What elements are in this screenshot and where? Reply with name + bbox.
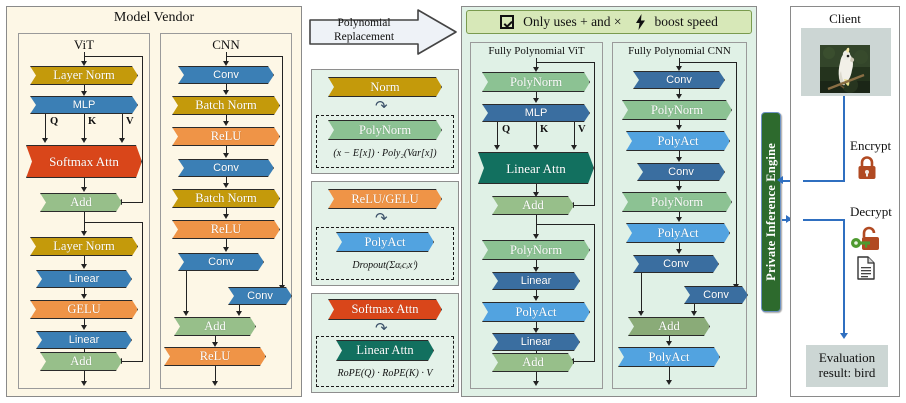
repl-node-norm: Norm bbox=[328, 77, 442, 97]
pcnn-skip-h bbox=[679, 62, 737, 63]
pvit-spine-0-arrow bbox=[533, 67, 539, 72]
pcnn-conv3-down bbox=[641, 273, 642, 314]
encrypt-label: Encrypt bbox=[850, 138, 898, 154]
pvit-label-v: V bbox=[578, 124, 586, 135]
replacement-loop-icon-2: ↷ bbox=[375, 209, 388, 228]
pvit-node-linear-1: Linear bbox=[492, 272, 580, 290]
vit-spine-5-arrow bbox=[81, 294, 87, 299]
cnn-node-conv-2: Conv bbox=[178, 159, 274, 177]
pcnn-spine-1-arrow bbox=[676, 94, 682, 99]
vit-res2-h-bot bbox=[122, 361, 143, 362]
pvit-label-k: K bbox=[540, 124, 548, 135]
bird-photo bbox=[820, 45, 870, 93]
pcnn-spine-3-arrow bbox=[676, 157, 682, 162]
vit-res2-h-top bbox=[84, 222, 143, 223]
cnn-spine-0-arrow bbox=[223, 61, 229, 66]
client-enc-v bbox=[843, 96, 845, 182]
pvit-qkv-v-arrow bbox=[571, 145, 577, 150]
checkbox-checked-icon bbox=[500, 15, 514, 29]
cnn-node-relu-1: ReLU bbox=[172, 127, 280, 146]
repl-node-softmax-attn: Softmax Attn bbox=[328, 299, 442, 320]
private-inference-engine-left: Private Inference Engine bbox=[761, 112, 781, 312]
pvit-res2-h-top bbox=[536, 224, 595, 225]
pvit-qkv-q-line bbox=[497, 122, 498, 147]
cnn-node-relu-3: ReLU bbox=[164, 347, 266, 366]
cnn-spine-7-arrow bbox=[212, 342, 218, 347]
pcnn-node-conv-3: Conv bbox=[633, 255, 719, 273]
engine-left-label: Private Inference Engine bbox=[764, 143, 779, 281]
vit-node-linear-2: Linear bbox=[36, 331, 132, 349]
cnn-spine-3-arrow bbox=[223, 153, 229, 158]
pvit-node-add-1: Add bbox=[492, 196, 574, 215]
cnn-conv3-arrow bbox=[183, 311, 189, 316]
engine-arrow-left-head bbox=[777, 176, 783, 184]
cnn-conv3-down bbox=[186, 271, 187, 313]
pcnn-spine-4-arrow bbox=[676, 186, 682, 191]
pcnn-spine-0-arrow bbox=[676, 66, 682, 71]
pcnn-node-conv-1: Conv bbox=[633, 71, 725, 89]
vit-node-softmax-attn: Softmax Attn bbox=[26, 145, 142, 178]
cnn-spine-4-arrow bbox=[223, 183, 229, 188]
vit-qkv-q-line bbox=[45, 114, 46, 140]
pcnn-conv3-arrow bbox=[638, 311, 644, 316]
pvit-qkv-k-line bbox=[536, 122, 537, 147]
pvit-res1-h-bot bbox=[574, 205, 595, 206]
cnn-node-conv-3: Conv bbox=[178, 253, 264, 271]
repl-node-linear-attn: Linear Attn bbox=[336, 340, 434, 361]
vit-title: ViT bbox=[18, 37, 150, 53]
client-dec-v bbox=[843, 219, 845, 336]
pcnn-node-polyact-2: PolyAct bbox=[626, 223, 730, 243]
pcnn-spine-5-arrow bbox=[676, 217, 682, 222]
client-dec-h bbox=[803, 219, 844, 221]
vit-qkv-v-line bbox=[122, 114, 123, 140]
pvit-node-add-2: Add bbox=[492, 353, 574, 372]
vit-res2-v bbox=[142, 222, 143, 361]
pcnn-node-polyact-3: PolyAct bbox=[618, 347, 720, 367]
vit-spine-2-arrow bbox=[81, 187, 87, 192]
cnn-node-batch-norm-1: Batch Norm bbox=[172, 96, 280, 115]
arrow-label-line1: Polynomial bbox=[312, 16, 416, 30]
poly-vit-title: Fully Polynomial ViT bbox=[470, 45, 603, 57]
open-padlock-with-key-icon bbox=[850, 226, 884, 252]
vit-qkv-k-line bbox=[84, 114, 85, 140]
vit-qkv-k-arrow bbox=[81, 138, 87, 143]
pvit-res2-v bbox=[594, 224, 595, 361]
client-dec-arrow bbox=[840, 333, 848, 339]
vit-node-add-1: Add bbox=[40, 193, 122, 212]
pvit-spine-5-arrow bbox=[533, 296, 539, 301]
pcnn-node-conv-shortcut: Conv bbox=[684, 286, 748, 304]
cnn-node-batch-norm-2: Batch Norm bbox=[172, 189, 280, 208]
pcnn-node-conv-2: Conv bbox=[637, 163, 725, 181]
vit-label-k: K bbox=[88, 116, 96, 127]
vit-node-add-2: Add bbox=[40, 352, 122, 371]
pvit-node-polynorm-2: PolyNorm bbox=[482, 240, 590, 260]
vit-spine-6-arrow bbox=[81, 325, 87, 330]
pvit-spine-4-arrow bbox=[533, 267, 539, 272]
replacement-loop-icon-1: ↷ bbox=[375, 97, 388, 116]
polynomial-replacement-arrow: Polynomial Replacement bbox=[308, 8, 458, 56]
vit-label-q: Q bbox=[50, 116, 58, 127]
pvit-res1-h-top bbox=[536, 62, 595, 63]
pcnn-spine-8-arrow bbox=[666, 380, 672, 385]
lightning-bolt-icon bbox=[635, 14, 646, 30]
evaluation-result-line2: result: bird bbox=[819, 366, 876, 381]
pcnn-node-add: Add bbox=[628, 317, 710, 336]
model-vendor-title: Model Vendor bbox=[6, 10, 302, 26]
vit-spine-4-arrow bbox=[81, 264, 87, 269]
decrypt-label: Decrypt bbox=[850, 204, 898, 220]
cnn-spine-8-arrow bbox=[212, 381, 218, 386]
vit-node-mlp: MLP bbox=[30, 96, 138, 114]
vit-node-gelu: GELU bbox=[30, 300, 138, 319]
vit-res1-h-bot bbox=[122, 202, 143, 203]
pcnn-spine-6-arrow bbox=[676, 249, 682, 254]
evaluation-result-line1: Evaluation bbox=[819, 351, 875, 366]
repl-formula-polynorm: (x − E[x]) · Poly₂(Var[x]) bbox=[316, 148, 454, 159]
cnn-node-relu-2: ReLU bbox=[172, 220, 280, 239]
pvit-res1-v bbox=[594, 62, 595, 205]
repl-node-polynorm: PolyNorm bbox=[328, 120, 442, 140]
vit-spine-3 bbox=[84, 212, 85, 233]
client-enc-h bbox=[803, 180, 844, 182]
pvit-spine-6-arrow bbox=[533, 328, 539, 333]
figure-root: Model Vendor ViT Layer Norm MLP Q K V So… bbox=[0, 0, 906, 403]
pvit-qkv-q-arrow bbox=[494, 145, 500, 150]
cnn-spine-2-arrow bbox=[223, 121, 229, 126]
banner-text-1: Only uses + and × bbox=[523, 14, 621, 30]
cnn-skip-h bbox=[226, 56, 283, 57]
vit-spine-8-arrow bbox=[81, 381, 87, 386]
pcnn-convs-arrow bbox=[691, 311, 697, 316]
cnn-spine-6-arrow bbox=[223, 247, 229, 252]
cnn-node-conv-shortcut: Conv bbox=[228, 287, 292, 305]
polynomial-replacement-label: Polynomial Replacement bbox=[312, 16, 416, 45]
pvit-spine-8-arrow bbox=[533, 381, 539, 386]
pcnn-spine-2-arrow bbox=[676, 125, 682, 130]
cnn-skip-v bbox=[282, 56, 283, 287]
pvit-node-linear-attn: Linear Attn bbox=[478, 152, 594, 184]
cnn-node-conv-1: Conv bbox=[178, 66, 274, 84]
pcnn-skip-v bbox=[736, 62, 737, 286]
repl-formula-polyact: Dropout(Σαᵢcᵢxⁱ) bbox=[316, 260, 454, 271]
pcnn-spine-7-arrow bbox=[666, 341, 672, 346]
pcnn-node-polynorm-2: PolyNorm bbox=[622, 192, 732, 212]
vit-node-linear-1: Linear bbox=[36, 270, 132, 288]
cockatoo-image bbox=[820, 45, 870, 93]
poly-cnn-title: Fully Polynomial CNN bbox=[610, 45, 749, 57]
pvit-label-q: Q bbox=[502, 124, 510, 135]
repl-node-polyact: PolyAct bbox=[336, 232, 434, 252]
cnn-convs-arrow bbox=[236, 311, 242, 316]
cnn-spine-1-arrow bbox=[223, 90, 229, 95]
vit-label-v: V bbox=[126, 116, 134, 127]
pcnn-node-polynorm-1: PolyNorm bbox=[622, 100, 732, 120]
vit-spine-1-arrow bbox=[81, 91, 87, 96]
repl-formula-linear-attn: RoPE(Q) · RoPE(K) · V bbox=[316, 368, 454, 379]
repl-node-relu-gelu: ReLU/GELU bbox=[328, 189, 442, 209]
vit-node-layer-norm-2: Layer Norm bbox=[30, 237, 138, 256]
vit-spine-0-arrow bbox=[81, 61, 87, 66]
pcnn-node-polyact-1: PolyAct bbox=[626, 131, 730, 151]
pvit-spine-1-arrow bbox=[533, 98, 539, 103]
pvit-node-polynorm-1: PolyNorm bbox=[482, 72, 590, 92]
pvit-res2-h-bot bbox=[574, 361, 595, 362]
vit-qkv-q-arrow bbox=[42, 138, 48, 143]
property-banner: Only uses + and × boost speed bbox=[466, 10, 752, 34]
pvit-node-polyact: PolyAct bbox=[482, 302, 590, 322]
pvit-spine-3-arrow bbox=[533, 234, 539, 239]
cnn-node-add: Add bbox=[174, 317, 256, 336]
vit-qkv-v-arrow bbox=[119, 138, 125, 143]
cnn-title: CNN bbox=[160, 37, 292, 53]
pvit-qkv-v-line bbox=[574, 122, 575, 147]
vit-res1-v bbox=[142, 56, 143, 202]
cnn-spine-5-arrow bbox=[223, 214, 229, 219]
vit-res1-h-top bbox=[84, 56, 143, 57]
pvit-node-linear-2: Linear bbox=[492, 333, 580, 351]
arrow-label-line2: Replacement bbox=[312, 30, 416, 44]
pvit-qkv-k-arrow bbox=[533, 145, 539, 150]
evaluation-result-box: Evaluation result: bird bbox=[806, 345, 888, 387]
document-icon bbox=[856, 256, 876, 280]
closed-padlock-icon bbox=[856, 155, 878, 181]
pvit-node-mlp: MLP bbox=[482, 104, 590, 122]
banner-text-2: boost speed bbox=[655, 14, 718, 30]
vit-node-layer-norm-1: Layer Norm bbox=[30, 66, 138, 85]
vit-spine-3-arrow bbox=[81, 231, 87, 236]
client-title: Client bbox=[790, 11, 900, 27]
